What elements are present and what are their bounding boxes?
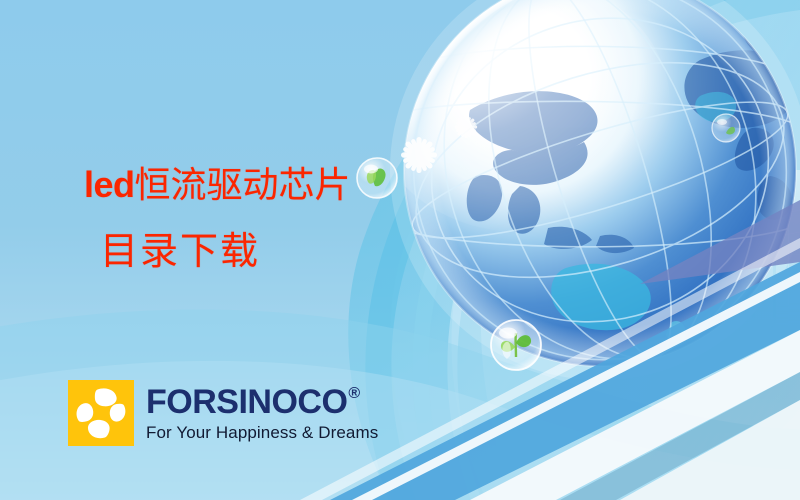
logo-text-block: FORSINOCO ® For Your Happiness & Dreams bbox=[146, 385, 378, 441]
bottom-diagonal-bands bbox=[300, 200, 800, 500]
headline-han-text: 恒流驱动芯片 bbox=[135, 165, 351, 206]
top-arcs bbox=[378, 0, 714, 500]
glass-bubble-sprout-left bbox=[357, 158, 397, 198]
headline-block: led恒流驱动芯片 目录下载 bbox=[84, 163, 351, 274]
headline-line-2: 目录下载 bbox=[100, 228, 351, 274]
logo-tagline: For Your Happiness & Dreams bbox=[146, 424, 378, 441]
glass-bubble-sprout-right bbox=[712, 114, 740, 142]
company-logo: FORSINOCO ® For Your Happiness & Dreams bbox=[68, 380, 378, 446]
registered-trademark-icon: ® bbox=[348, 386, 359, 402]
sparkle-star-small bbox=[455, 116, 477, 138]
logo-wordmark-text: FORSINOCO bbox=[146, 385, 347, 419]
headline-latin-text: led bbox=[84, 164, 135, 205]
earth-globe bbox=[367, 0, 800, 406]
logo-wordmark: FORSINOCO ® bbox=[146, 385, 378, 419]
sparkle-star-large bbox=[401, 137, 437, 173]
city-skyline-silhouette bbox=[575, 136, 800, 352]
pinwheel-flower-icon bbox=[68, 380, 134, 446]
glass-bubble-sprout-center bbox=[491, 320, 541, 370]
promo-banner: led恒流驱动芯片 目录下载 FORSINO bbox=[0, 0, 800, 500]
ribbon-group bbox=[348, 0, 800, 500]
headline-line-1: led恒流驱动芯片 bbox=[84, 163, 351, 208]
